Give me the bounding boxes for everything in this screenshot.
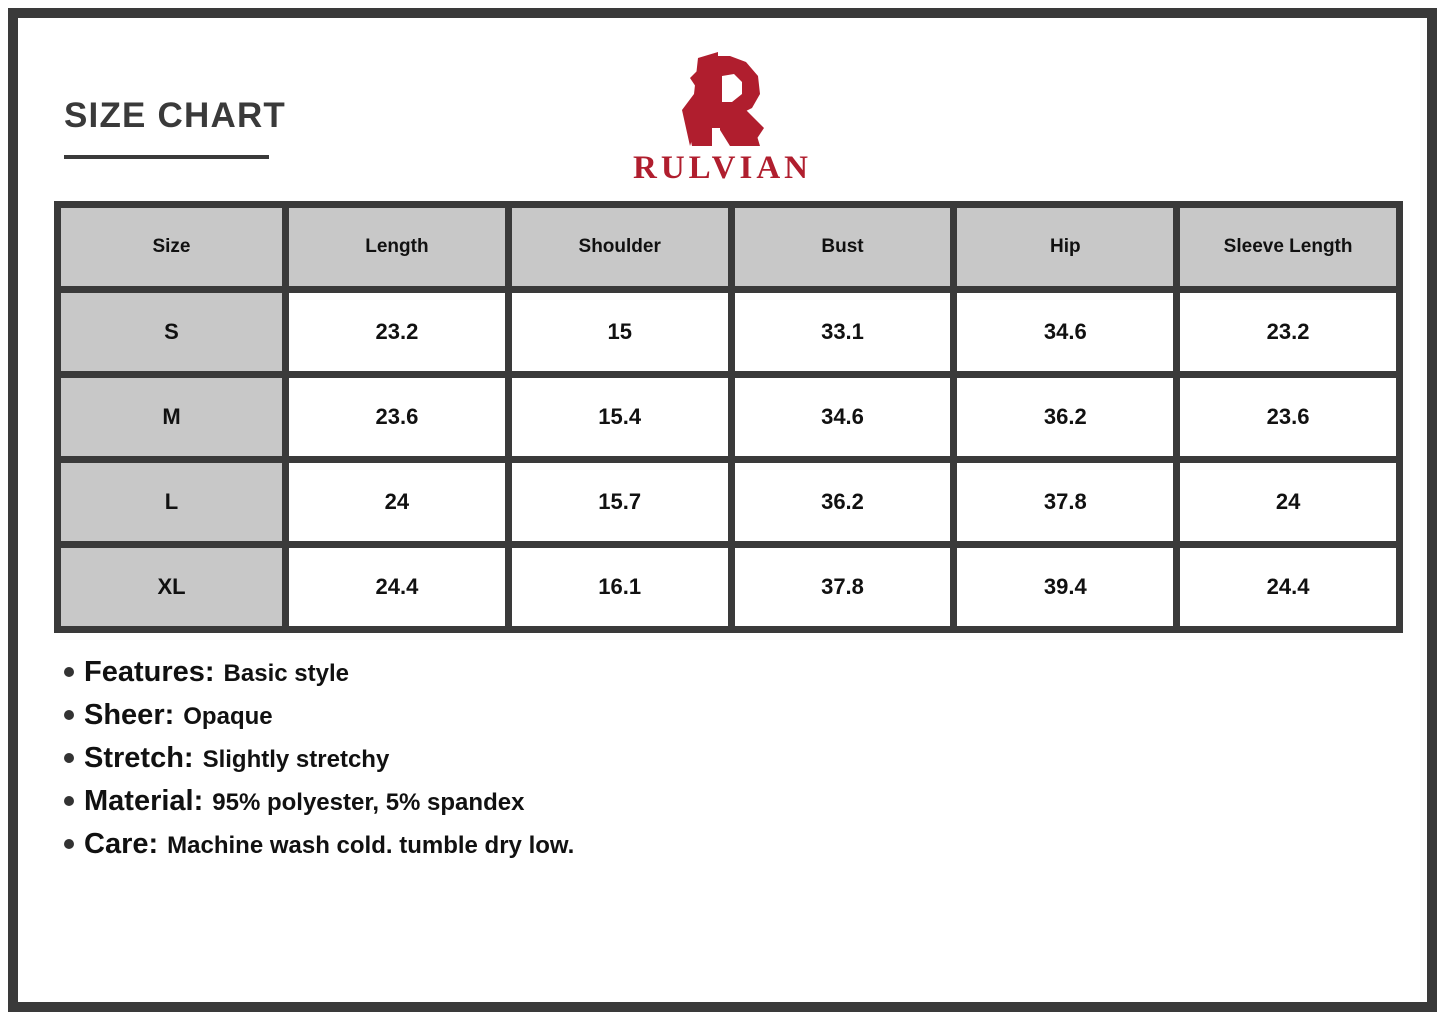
column-header-bust: Bust: [735, 208, 951, 286]
note-item-care: Care: Machine wash cold. tumble dry low.: [64, 828, 1264, 861]
page-content: SIZE CHART RULVIAN: [18, 18, 1427, 1002]
brand-wordmark: RULVIAN: [18, 152, 1427, 185]
cell-length: 24.4: [289, 548, 505, 626]
cell-sleeve-length: 23.2: [1180, 293, 1396, 371]
cell-sleeve-length: 24: [1180, 463, 1396, 541]
bullet-icon: [64, 667, 74, 677]
angular-r-monogram-icon: [668, 50, 778, 148]
cell-size: M: [61, 378, 282, 456]
cell-shoulder: 15.4: [512, 378, 728, 456]
cell-size: L: [61, 463, 282, 541]
cell-sleeve-length: 23.6: [1180, 378, 1396, 456]
bullet-icon: [64, 710, 74, 720]
note-label: Material:: [84, 785, 203, 818]
cell-length: 24: [289, 463, 505, 541]
size-table-wrapper: Size Length Shoulder Bust Hip Sleeve Len…: [54, 201, 1403, 633]
note-item-stretch: Stretch: Slightly stretchy: [64, 742, 1264, 775]
cell-hip: 37.8: [957, 463, 1173, 541]
brand-logo: RULVIAN: [18, 50, 1427, 185]
column-header-sleeve-length: Sleeve Length: [1180, 208, 1396, 286]
note-value: Machine wash cold. tumble dry low.: [167, 832, 574, 860]
cell-shoulder: 15: [512, 293, 728, 371]
column-header-hip: Hip: [957, 208, 1173, 286]
header: SIZE CHART RULVIAN: [18, 18, 1427, 193]
note-item-features: Features: Basic style: [64, 656, 1264, 689]
cell-bust: 33.1: [735, 293, 951, 371]
cell-shoulder: 15.7: [512, 463, 728, 541]
cell-length: 23.6: [289, 378, 505, 456]
note-value: Opaque: [183, 703, 272, 731]
bullet-icon: [64, 753, 74, 763]
cell-size: S: [61, 293, 282, 371]
column-header-shoulder: Shoulder: [512, 208, 728, 286]
cell-length: 23.2: [289, 293, 505, 371]
cell-hip: 39.4: [957, 548, 1173, 626]
note-value: Slightly stretchy: [203, 746, 390, 774]
cell-sleeve-length: 24.4: [1180, 548, 1396, 626]
note-item-material: Material: 95% polyester, 5% spandex: [64, 785, 1264, 818]
note-item-sheer: Sheer: Opaque: [64, 699, 1264, 732]
table-header-row: Size Length Shoulder Bust Hip Sleeve Len…: [61, 208, 1396, 286]
cell-hip: 34.6: [957, 293, 1173, 371]
note-label: Sheer:: [84, 699, 174, 732]
cell-bust: 36.2: [735, 463, 951, 541]
cell-bust: 37.8: [735, 548, 951, 626]
column-header-length: Length: [289, 208, 505, 286]
note-label: Care:: [84, 828, 158, 861]
cell-hip: 36.2: [957, 378, 1173, 456]
cell-shoulder: 16.1: [512, 548, 728, 626]
table-row: S 23.2 15 33.1 34.6 23.2: [61, 293, 1396, 371]
column-header-size: Size: [61, 208, 282, 286]
note-label: Stretch:: [84, 742, 194, 775]
bullet-icon: [64, 796, 74, 806]
note-value: 95% polyester, 5% spandex: [212, 789, 524, 817]
size-chart-page: SIZE CHART RULVIAN: [0, 0, 1445, 1020]
bullet-icon: [64, 839, 74, 849]
product-notes: Features: Basic style Sheer: Opaque Stre…: [64, 656, 1264, 871]
page-border-frame: SIZE CHART RULVIAN: [8, 8, 1437, 1012]
table-row: L 24 15.7 36.2 37.8 24: [61, 463, 1396, 541]
cell-size: XL: [61, 548, 282, 626]
size-table: Size Length Shoulder Bust Hip Sleeve Len…: [54, 201, 1403, 633]
table-row: XL 24.4 16.1 37.8 39.4 24.4: [61, 548, 1396, 626]
note-value: Basic style: [224, 660, 349, 688]
table-row: M 23.6 15.4 34.6 36.2 23.6: [61, 378, 1396, 456]
note-label: Features:: [84, 656, 215, 689]
cell-bust: 34.6: [735, 378, 951, 456]
